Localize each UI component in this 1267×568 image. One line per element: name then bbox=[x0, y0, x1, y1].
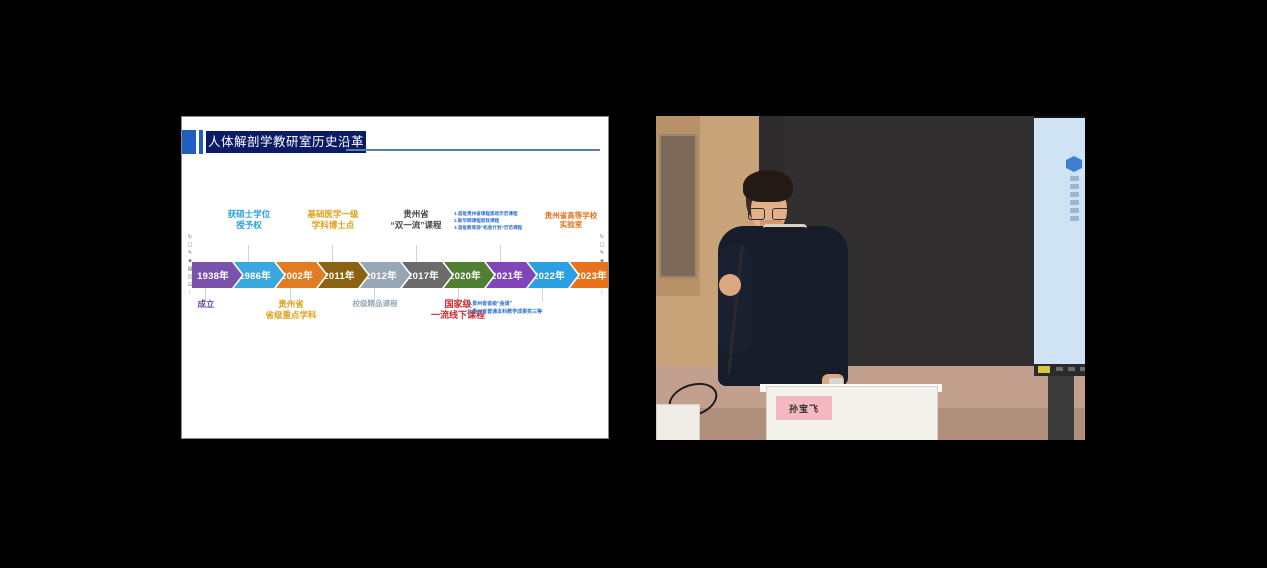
chevron-label: 2012年 bbox=[365, 268, 397, 282]
more-icon[interactable]: ⋮ bbox=[188, 291, 193, 296]
pen-icon[interactable]: ✎ bbox=[188, 251, 192, 256]
timeline[interactable]: 1938年 1986年 2002年 2011年 2012年 2017年 2020… bbox=[192, 262, 604, 288]
timeline-label-below-2012: 校级精品课程 bbox=[336, 299, 414, 308]
speaker-collar bbox=[763, 224, 807, 253]
projected-toolbar-icon bbox=[1070, 176, 1079, 221]
connector bbox=[332, 245, 333, 262]
presentation-slide[interactable]: 人体解剖学教研室历史沿革 ↻ □ ✎ ◈ ▤ ◫ ☷ ⋮ ↻ □ ✎ ◈ ▤ ◫… bbox=[181, 116, 609, 439]
speaker-name-card: 孙宝飞 bbox=[776, 396, 832, 420]
pen-icon[interactable]: ✎ bbox=[600, 251, 604, 256]
timeline-label-above-2017: 贵州省 “双一流”课程 bbox=[372, 209, 460, 230]
page-title[interactable]: 人体解剖学教研室历史沿革 bbox=[206, 131, 366, 153]
chevron-label: 2011年 bbox=[323, 268, 354, 282]
chevron-label: 2017年 bbox=[407, 268, 439, 282]
timeline-label-above-1986: 获硕士学位 授予权 bbox=[204, 209, 294, 230]
crop-icon[interactable]: □ bbox=[188, 243, 193, 248]
projector-indicator bbox=[1038, 366, 1050, 373]
projector-button bbox=[1068, 367, 1075, 371]
connector bbox=[500, 245, 501, 262]
chevron-label: 2023年 bbox=[575, 268, 607, 282]
title-divider-line bbox=[346, 149, 600, 151]
timeline-label-above-2021: 1.首批贵州省课程思政示范课程 2.新华网课程思政课程 3.首批教育部“拓金计划… bbox=[454, 211, 554, 232]
app-root: 人体解剖学教研室历史沿革 ↻ □ ✎ ◈ ▤ ◫ ☷ ⋮ ↻ □ ✎ ◈ ▤ ◫… bbox=[0, 0, 1267, 568]
chevron-label: 1986年 bbox=[239, 268, 271, 282]
timeline-chevron-1938[interactable]: 1938年 bbox=[192, 262, 242, 288]
lecture-video-feed[interactable]: 获 1938年 成立 孙宝飞 bbox=[656, 116, 1085, 440]
chevron-label: 2021年 bbox=[491, 268, 523, 282]
timeline-label-above-2011: 基础医学一级 学科博士点 bbox=[284, 209, 382, 230]
crop-icon[interactable]: □ bbox=[600, 243, 605, 248]
rotate-icon[interactable]: ↻ bbox=[600, 235, 604, 240]
chevron-label: 2002年 bbox=[281, 268, 313, 282]
speaker-hand bbox=[719, 274, 741, 296]
glasses-icon bbox=[748, 208, 790, 219]
title-accent-block-small bbox=[199, 130, 203, 154]
side-cabinet bbox=[656, 404, 700, 440]
timeline-label-below-2022: 1.贵州省省级“金课” 2.贵州省普通本科教学成果奖三等 bbox=[468, 301, 594, 316]
timeline-label-above-2023: 贵州省高等学校 实验室 bbox=[540, 211, 602, 230]
rotate-icon[interactable]: ↻ bbox=[188, 235, 192, 240]
more-icon[interactable]: ⋮ bbox=[600, 291, 605, 296]
projected-hex-marker bbox=[1066, 156, 1082, 172]
projector-button bbox=[1080, 367, 1085, 371]
classroom-door bbox=[659, 134, 697, 278]
chevron-label: 2020年 bbox=[449, 268, 481, 282]
timeline-label-below-1938: 成立 bbox=[186, 299, 226, 310]
title-accent-block-large bbox=[182, 130, 196, 154]
chevron-label: 2022年 bbox=[533, 268, 565, 282]
connector bbox=[542, 288, 543, 302]
projector-stand bbox=[1048, 376, 1074, 440]
projection-screen: 获 1938年 成立 bbox=[1034, 118, 1085, 364]
projector-button bbox=[1056, 367, 1063, 371]
speaker-hair bbox=[743, 170, 793, 202]
chevron-label: 1938年 bbox=[197, 268, 229, 282]
connector bbox=[248, 245, 249, 262]
connector bbox=[416, 245, 417, 262]
timeline-label-below-2002: 贵州省 省级重点学科 bbox=[248, 299, 334, 320]
